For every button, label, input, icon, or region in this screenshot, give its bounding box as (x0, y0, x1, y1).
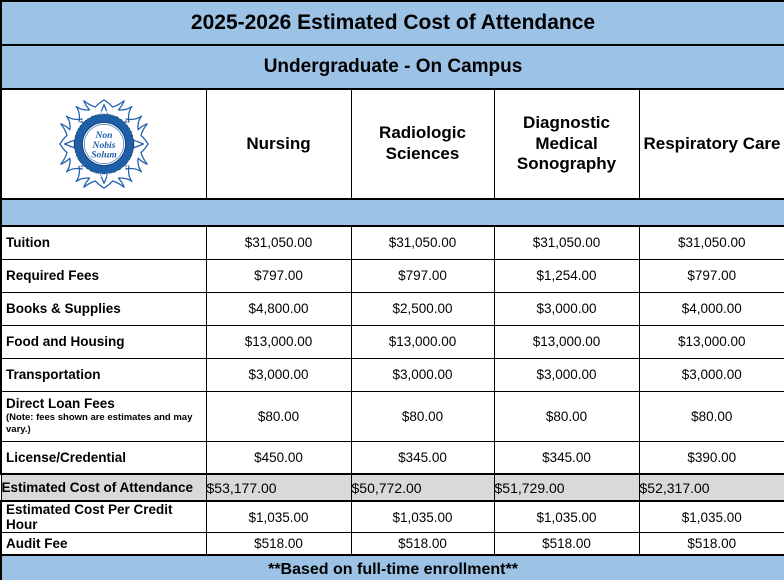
row-label-estimated-cost-per-credit-hour: Estimated Cost Per Credit Hour (1, 501, 206, 533)
table-row: Direct Loan Fees (Note: fees shown are e… (1, 391, 784, 441)
cell-audit-fee-respiratory-care: $518.00 (639, 533, 784, 555)
footer-note: **Based on full-time enrollment** (1, 555, 784, 580)
table-row: Tuition $31,050.00 $31,050.00 $31,050.00… (1, 226, 784, 259)
title-row: 2025-2026 Estimated Cost of Attendance (1, 1, 784, 45)
cell-books-nursing: $4,800.00 (206, 292, 351, 325)
row-label-direct-loan-fees: Direct Loan Fees (Note: fees shown are e… (1, 391, 206, 441)
cell-per-credit-nursing: $1,035.00 (206, 501, 351, 533)
row-label-direct-loan-fees-text: Direct Loan Fees (6, 396, 115, 411)
cell-per-credit-respiratory-care: $1,035.00 (639, 501, 784, 533)
spacer-band (1, 199, 784, 226)
cell-loan-fees-respiratory-care: $80.00 (639, 391, 784, 441)
cell-total-respiratory-care: $52,317.00 (639, 474, 784, 501)
cell-food-nursing: $13,000.00 (206, 325, 351, 358)
cell-required-fees-diagnostic-medical-sonography: $1,254.00 (494, 259, 639, 292)
seal-motto-line-3: Solum (91, 149, 117, 160)
page-subtitle: Undergraduate - On Campus (1, 45, 784, 89)
cell-license-nursing: $450.00 (206, 441, 351, 474)
cost-of-attendance-sheet: 2025-2026 Estimated Cost of Attendance U… (0, 0, 784, 580)
cell-food-radiologic-sciences: $13,000.00 (351, 325, 494, 358)
cost-of-attendance-table: 2025-2026 Estimated Cost of Attendance U… (0, 0, 784, 580)
cell-tuition-diagnostic-medical-sonography: $31,050.00 (494, 226, 639, 259)
row-label-tuition: Tuition (1, 226, 206, 259)
cell-transportation-respiratory-care: $3,000.00 (639, 358, 784, 391)
row-label-transportation: Transportation (1, 358, 206, 391)
cell-audit-fee-radiologic-sciences: $518.00 (351, 533, 494, 555)
cell-loan-fees-nursing: $80.00 (206, 391, 351, 441)
row-label-audit-fee: Audit Fee (1, 533, 206, 555)
cell-books-radiologic-sciences: $2,500.00 (351, 292, 494, 325)
cell-required-fees-radiologic-sciences: $797.00 (351, 259, 494, 292)
college-seal-icon: BLESSING RIEMAN COLLEGE NURSING & HEALTH… (2, 92, 206, 196)
column-header-nursing: Nursing (206, 89, 351, 199)
cell-total-diagnostic-medical-sonography: $51,729.00 (494, 474, 639, 501)
table-row: Food and Housing $13,000.00 $13,000.00 $… (1, 325, 784, 358)
cell-license-radiologic-sciences: $345.00 (351, 441, 494, 474)
row-label-license-credential: License/Credential (1, 441, 206, 474)
table-row: License/Credential $450.00 $345.00 $345.… (1, 441, 784, 474)
table-row: Transportation $3,000.00 $3,000.00 $3,00… (1, 358, 784, 391)
column-header-diagnostic-medical-sonography: Diagnostic Medical Sonography (494, 89, 639, 199)
table-row: Books & Supplies $4,800.00 $2,500.00 $3,… (1, 292, 784, 325)
cell-loan-fees-diagnostic-medical-sonography: $80.00 (494, 391, 639, 441)
cell-total-radiologic-sciences: $50,772.00 (351, 474, 494, 501)
spacer-row (1, 199, 784, 226)
cell-tuition-respiratory-care: $31,050.00 (639, 226, 784, 259)
table-row: Audit Fee $518.00 $518.00 $518.00 $518.0… (1, 533, 784, 555)
cell-tuition-radiologic-sciences: $31,050.00 (351, 226, 494, 259)
cell-required-fees-respiratory-care: $797.00 (639, 259, 784, 292)
cell-food-respiratory-care: $13,000.00 (639, 325, 784, 358)
cell-required-fees-nursing: $797.00 (206, 259, 351, 292)
cell-audit-fee-nursing: $518.00 (206, 533, 351, 555)
footer-row: **Based on full-time enrollment** (1, 555, 784, 580)
cell-books-diagnostic-medical-sonography: $3,000.00 (494, 292, 639, 325)
row-label-estimated-cost-of-attendance: Estimated Cost of Attendance (1, 474, 206, 501)
subtitle-row: Undergraduate - On Campus (1, 45, 784, 89)
cell-per-credit-diagnostic-medical-sonography: $1,035.00 (494, 501, 639, 533)
table-row: Required Fees $797.00 $797.00 $1,254.00 … (1, 259, 784, 292)
page-title: 2025-2026 Estimated Cost of Attendance (1, 1, 784, 45)
cell-audit-fee-diagnostic-medical-sonography: $518.00 (494, 533, 639, 555)
cell-per-credit-radiologic-sciences: $1,035.00 (351, 501, 494, 533)
cell-loan-fees-radiologic-sciences: $80.00 (351, 391, 494, 441)
cell-license-respiratory-care: $390.00 (639, 441, 784, 474)
cell-transportation-radiologic-sciences: $3,000.00 (351, 358, 494, 391)
row-label-food-and-housing: Food and Housing (1, 325, 206, 358)
cell-transportation-nursing: $3,000.00 (206, 358, 351, 391)
cell-tuition-nursing: $31,050.00 (206, 226, 351, 259)
table-row: Estimated Cost Per Credit Hour $1,035.00… (1, 501, 784, 533)
row-label-books-and-supplies: Books & Supplies (1, 292, 206, 325)
logo-cell: BLESSING RIEMAN COLLEGE NURSING & HEALTH… (1, 89, 206, 199)
row-label-required-fees: Required Fees (1, 259, 206, 292)
cell-books-respiratory-care: $4,000.00 (639, 292, 784, 325)
table-row-total: Estimated Cost of Attendance $53,177.00 … (1, 474, 784, 501)
column-header-radiologic-sciences: Radiologic Sciences (351, 89, 494, 199)
row-label-direct-loan-fees-note: (Note: fees shown are estimates and may … (6, 412, 206, 436)
cell-license-diagnostic-medical-sonography: $345.00 (494, 441, 639, 474)
cell-food-diagnostic-medical-sonography: $13,000.00 (494, 325, 639, 358)
cell-transportation-diagnostic-medical-sonography: $3,000.00 (494, 358, 639, 391)
cell-total-nursing: $53,177.00 (206, 474, 351, 501)
column-header-respiratory-care: Respiratory Care (639, 89, 784, 199)
column-header-row: BLESSING RIEMAN COLLEGE NURSING & HEALTH… (1, 89, 784, 199)
